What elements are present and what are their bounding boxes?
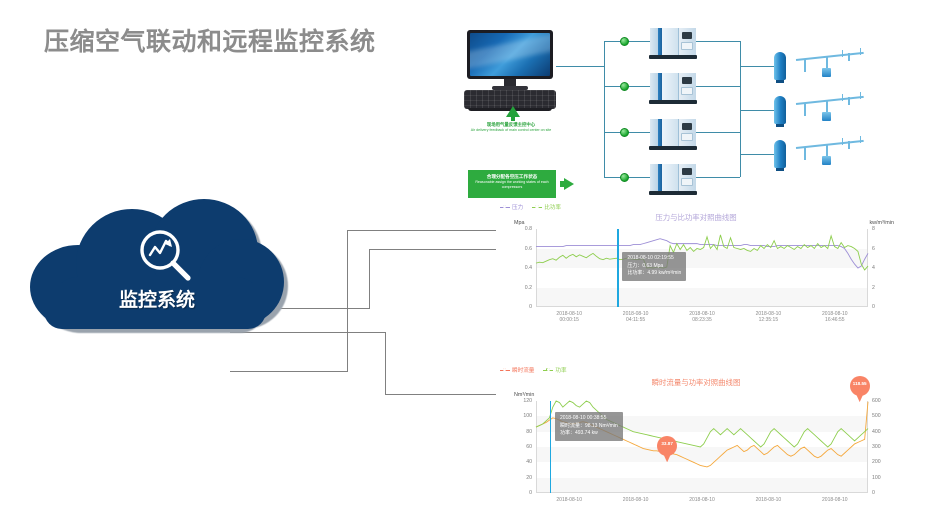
green-node-dot-icon-1 — [620, 37, 629, 46]
connector-line-3-h2 — [385, 394, 499, 395]
monitoring-cloud[interactable]: 监控系统 — [22, 193, 292, 331]
green-up-arrow-stem — [511, 116, 515, 121]
chart1-ytick: 0.4 — [498, 265, 532, 271]
tank-group-2 — [774, 94, 894, 128]
chart2-ytick-right: 300 — [872, 444, 900, 450]
chart2-title: 瞬时流量与功率对照曲线图 — [496, 377, 896, 388]
xtick-line1: 2018-08-10 — [556, 497, 582, 503]
chart1-xtick: 2018-08-1004:11:55 — [623, 311, 649, 323]
chart1-xtick: 2018-08-1012:35:15 — [756, 311, 782, 323]
chart2-ytick: 60 — [498, 444, 532, 450]
chart1-xtick: 2018-08-1008:23:35 — [689, 311, 715, 323]
chart1-series-layer — [536, 229, 868, 307]
pipe-collect-2 — [696, 86, 740, 87]
air-compressor-icon-4 — [650, 164, 696, 195]
xtick-line2: 04:11:55 — [623, 317, 649, 323]
pipe-header-icon-2 — [796, 96, 864, 105]
chart2-ytick: 80 — [498, 429, 532, 435]
system-topology-diagram: 现场用气量反馈主控中心 Air delivery feedback of mai… — [434, 22, 934, 204]
chart2-plot[interactable]: 02040608010012001002003004005006002018-0… — [536, 401, 868, 493]
chart2-xtick: 2018-08-10 — [689, 497, 715, 503]
green-node-dot-icon-4 — [620, 173, 629, 182]
chart2-ytick-right: 200 — [872, 459, 900, 465]
pipe-collect-3 — [696, 132, 740, 133]
chart1-ytick-right: 2 — [872, 285, 900, 291]
chart1-series-压力 — [536, 239, 868, 268]
chart1-legend-item-1[interactable]: 比功率 — [532, 203, 561, 211]
chart1-ytick: 0.8 — [498, 226, 532, 232]
chart2-xtick: 2018-08-10 — [822, 497, 848, 503]
chart2-ytick-right: 100 — [872, 475, 900, 481]
chart2-legend-item-0[interactable]: 瞬时流量 — [500, 366, 534, 374]
tooltip-row1: 瞬时流量：98.13 Nm³/min — [560, 423, 618, 431]
pin-tip — [855, 391, 865, 402]
connector-line-2-v — [369, 249, 370, 309]
cloud-label: 监控系统 — [22, 285, 292, 312]
legend-marker-icon — [532, 205, 542, 210]
xtick-line2: 12:35:15 — [756, 317, 782, 323]
tooltip-time: 2018-08-10 02:19:55 — [627, 255, 681, 263]
pipe-left-bus — [604, 41, 605, 177]
pipe-feed-3 — [740, 154, 774, 155]
flow-power-chart[interactable]: 瞬时流量功率 瞬时流量与功率对照曲线图 Nm³/min 020406080100… — [496, 366, 896, 526]
assign-status-box: 合理分配各空压工作状态 Reasonable assign the workin… — [468, 170, 556, 198]
pipe-right-bus — [740, 41, 741, 177]
pipe-feed-1 — [740, 66, 774, 67]
slide-canvas: 压缩空气联动和远程监控系统 监控系统 — [0, 0, 945, 529]
pipe-collect-4 — [696, 177, 740, 178]
assign-box-en: Reasonable assign the working states of … — [468, 180, 556, 189]
chart2-tooltip: 2018-08-10 00:38:55瞬时流量：98.13 Nm³/min功率：… — [555, 412, 623, 441]
air-compressor-icon-2 — [650, 73, 696, 104]
pipe-feed-2 — [740, 110, 774, 111]
tank-group-1 — [774, 50, 894, 84]
pipe-header-icon-1 — [796, 52, 864, 61]
pin-tip — [662, 451, 672, 462]
chart1-xtick: 2018-08-1000:00:15 — [556, 311, 582, 323]
chart1-tooltip: 2018-08-10 02:19:55压力：0.63 Mpa比功率：4.99 k… — [622, 252, 686, 281]
pipe-monitor-to-bus — [556, 66, 604, 67]
xtick-line2: 16:46:55 — [822, 317, 848, 323]
green-node-dot-icon-2 — [620, 82, 629, 91]
chart1-ytick: 0 — [498, 304, 532, 310]
feedback-note-en: Air delivery feedback of main control ce… — [462, 128, 560, 133]
air-compressor-icon-3 — [650, 119, 696, 150]
chart2-cursor-line[interactable] — [550, 401, 551, 493]
connector-line-1-v — [347, 230, 348, 372]
chart1-ytick-right: 4 — [872, 265, 900, 271]
chart2-ytick: 100 — [498, 413, 532, 419]
page-title: 压缩空气联动和远程监控系统 — [44, 22, 376, 58]
chart2-ytick-right: 600 — [872, 398, 900, 404]
feedback-note: 现场用气量反馈主控中心 Air delivery feedback of mai… — [462, 122, 560, 133]
chart2-ytick-right: 400 — [872, 429, 900, 435]
air-compressor-icon-1 — [650, 28, 696, 59]
xtick-line1: 2018-08-10 — [822, 497, 848, 503]
chart2-xtick: 2018-08-10 — [756, 497, 782, 503]
chart1-legend-label-0: 压力 — [512, 203, 523, 211]
chart1-series-比功率 — [536, 235, 868, 270]
xtick-line1: 2018-08-10 — [756, 497, 782, 503]
air-tank-icon-3 — [774, 140, 786, 168]
chart1-ytick: 0.2 — [498, 285, 532, 291]
chart2-ytick-right: 0 — [872, 490, 900, 496]
tooltip-row2: 功率：493.74 kw — [560, 430, 618, 438]
chart2-xtick: 2018-08-10 — [623, 497, 649, 503]
chart2-xtick: 2018-08-10 — [556, 497, 582, 503]
chart1-title: 压力与比功率对照曲线图 — [496, 212, 896, 223]
magnifier-chart-icon — [134, 225, 196, 287]
connector-line-1-h2 — [347, 230, 499, 231]
green-node-dot-icon-3 — [620, 128, 629, 137]
desktop-monitor-icon — [464, 30, 556, 114]
xtick-line2: 08:23:35 — [689, 317, 715, 323]
air-tank-icon-1 — [774, 52, 786, 80]
chart1-ytick: 0.6 — [498, 246, 532, 252]
pipe-collect-1 — [696, 41, 740, 42]
tooltip-time: 2018-08-10 00:38:55 — [560, 415, 618, 423]
chart2-ytick: 40 — [498, 459, 532, 465]
chart2-legend-item-1[interactable]: 功率 — [543, 366, 566, 374]
xtick-line2: 00:00:15 — [556, 317, 582, 323]
chart1-ytick-right: 8 — [872, 226, 900, 232]
legend-marker-icon — [543, 368, 553, 373]
green-right-arrow-icon — [564, 178, 574, 190]
tooltip-row2: 比功率：4.99 kw/m³/min — [627, 270, 681, 278]
connector-line-2-h2 — [369, 249, 499, 250]
chart2-marker-pin-1[interactable]: 118.55 — [850, 376, 870, 402]
pressure-power-chart[interactable]: 压力比功率 压力与比功率对照曲线图 Mpa kw/m³/min 00.20.40… — [496, 203, 896, 331]
tank-group-3 — [774, 138, 894, 172]
chart2-ytick-right: 500 — [872, 413, 900, 419]
chart1-legend-item-0[interactable]: 压力 — [500, 203, 523, 211]
chart2-ytick: 120 — [498, 398, 532, 404]
legend-marker-icon — [500, 368, 510, 373]
chart1-legend-label-1: 比功率 — [544, 203, 561, 211]
chart1-ytick-right: 6 — [872, 246, 900, 252]
chart2-legend[interactable]: 瞬时流量功率 — [500, 366, 567, 374]
chart2-legend-label-0: 瞬时流量 — [512, 366, 534, 374]
xtick-line1: 2018-08-10 — [623, 497, 649, 503]
chart1-plot[interactable]: 00.20.40.60.8024682018-08-1000:00:152018… — [536, 229, 868, 307]
chart1-legend[interactable]: 压力比功率 — [500, 203, 561, 211]
chart2-ytick: 20 — [498, 475, 532, 481]
chart2-ytick: 0 — [498, 490, 532, 496]
chart1-xtick: 2018-08-1016:46:55 — [822, 311, 848, 323]
chart1-cursor-line[interactable] — [617, 229, 618, 307]
pin-value: 118.55 — [850, 381, 870, 386]
legend-marker-icon — [500, 205, 510, 210]
air-tank-icon-2 — [774, 96, 786, 124]
chart2-marker-pin-0[interactable]: 33.87 — [657, 436, 677, 462]
connector-line-1-h1 — [230, 371, 348, 372]
chart1-ytick-right: 0 — [872, 304, 900, 310]
pin-value: 33.87 — [657, 441, 677, 446]
chart2-legend-label-1: 功率 — [555, 366, 566, 374]
connector-line-3-v — [385, 332, 386, 395]
pipe-header-icon-3 — [796, 140, 864, 149]
xtick-line1: 2018-08-10 — [689, 497, 715, 503]
